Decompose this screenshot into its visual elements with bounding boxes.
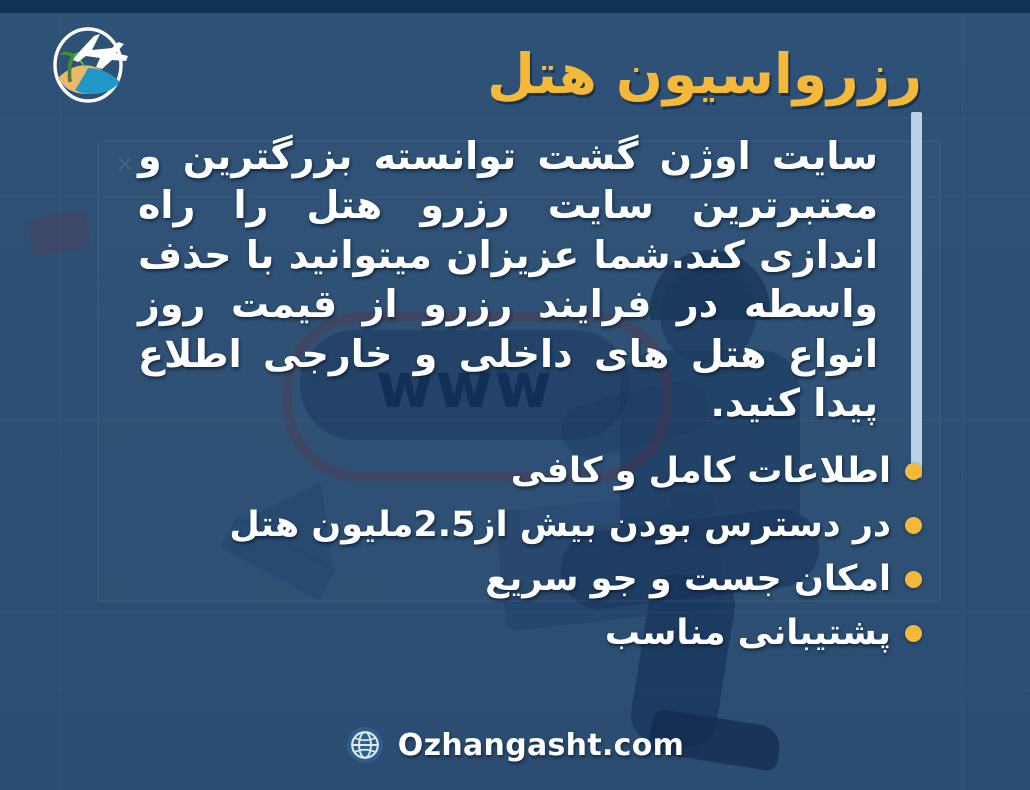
list-item-label: امکان جست و جو سریع bbox=[485, 560, 891, 599]
footer: Ozhangasht.com bbox=[0, 726, 1030, 764]
bullet-dot-icon bbox=[905, 463, 922, 480]
list-item: امکان جست و جو سریع bbox=[132, 554, 922, 604]
globe-icon bbox=[346, 726, 384, 764]
website-url: Ozhangasht.com bbox=[398, 728, 684, 763]
feature-list: اطلاعات کامل و کافی در دسترس بودن بیش از… bbox=[132, 446, 922, 662]
list-item: پشتیبانی مناسب bbox=[132, 608, 922, 658]
background-rule bbox=[0, 690, 1030, 691]
bullet-dot-icon bbox=[905, 517, 922, 534]
body-paragraph: سایت اوژن گشت توانسته بزرگترین و معتبرتر… bbox=[138, 132, 878, 428]
brand-logo bbox=[42, 20, 134, 106]
list-item: اطلاعات کامل و کافی bbox=[132, 446, 922, 496]
bullet-dot-icon bbox=[905, 625, 922, 642]
banner-canvas: www × رزرواسیون هتل سایت اوژن گشت توانست… bbox=[0, 0, 1030, 790]
background-vertical-rule bbox=[60, 13, 61, 790]
background-rule bbox=[0, 118, 1030, 119]
page-title: رزرواسیون هتل bbox=[487, 46, 922, 104]
list-item: در دسترس بودن بیش از2.5ملیون هتل bbox=[132, 500, 922, 550]
background-vertical-rule bbox=[962, 13, 963, 790]
list-item-label: پشتیبانی مناسب bbox=[605, 614, 891, 653]
close-icon: × bbox=[112, 152, 138, 178]
bullet-dot-icon bbox=[905, 571, 922, 588]
list-item-label: در دسترس بودن بیش از2.5ملیون هتل bbox=[229, 506, 891, 545]
list-item-label: اطلاعات کامل و کافی bbox=[511, 452, 891, 491]
top-strip bbox=[0, 0, 1030, 13]
accent-bar bbox=[911, 112, 922, 478]
